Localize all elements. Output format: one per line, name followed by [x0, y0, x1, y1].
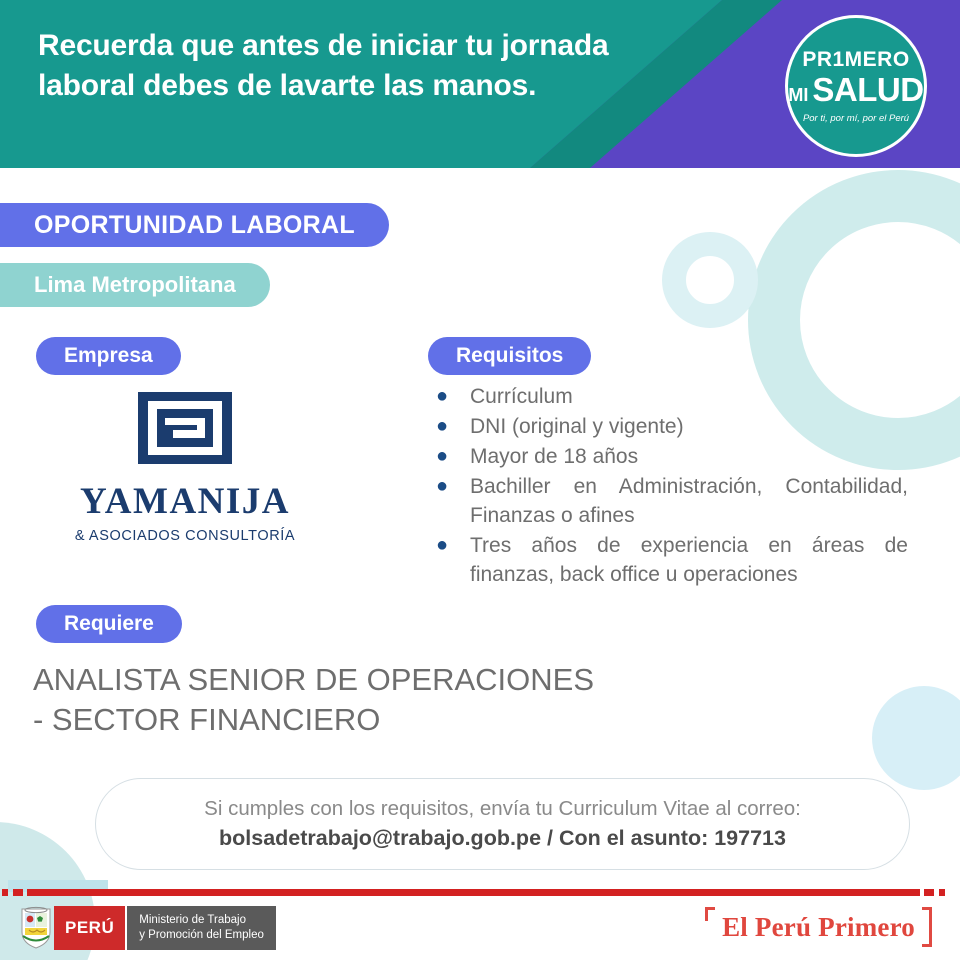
peru-text: PERÚ: [65, 918, 114, 938]
badge-mi-salud-row: MI SALUD: [788, 73, 923, 106]
list-item: ● Bachiller en Administración, Contabili…: [428, 472, 908, 530]
bullet-icon: ●: [428, 442, 470, 471]
el-peru-primero-logo: El Perú Primero: [705, 907, 932, 947]
company-name: YAMANIJA: [80, 480, 290, 523]
decorative-circle-right: [872, 686, 960, 790]
peru-coat-of-arms-icon: [18, 906, 54, 950]
requisitos-label: Requisitos: [456, 344, 563, 368]
divider-dash-left-2: [13, 889, 23, 896]
ministry-line-2: y Promoción del Empleo: [139, 928, 264, 943]
ministry-logo: PERÚ Ministerio de Trabajo y Promoción d…: [18, 906, 276, 950]
bullet-icon: ●: [428, 382, 470, 411]
header-message: Recuerda que antes de iniciar tu jornada…: [38, 26, 658, 106]
badge-oportunidad-laboral: OPORTUNIDAD LABORAL: [0, 203, 389, 247]
section-label-requisitos: Requisitos: [428, 337, 591, 375]
location-label: Lima Metropolitana: [34, 272, 236, 298]
requisito-text: Tres años de experiencia en áreas de fin…: [470, 531, 908, 589]
badge-primero-text: PR1MERO: [802, 49, 909, 70]
divider-line: [27, 889, 920, 896]
badge-mi-text: MI: [788, 86, 808, 104]
badge-location: Lima Metropolitana: [0, 263, 270, 307]
divider-dash-right-1: [924, 889, 934, 896]
oportunidad-label: OPORTUNIDAD LABORAL: [34, 211, 355, 240]
list-item: ● Currículum: [428, 382, 908, 411]
list-item: ● Mayor de 18 años: [428, 442, 908, 471]
contact-instruction: Si cumples con los requisitos, envía tu …: [204, 797, 801, 821]
badge-salud-text: SALUD: [812, 73, 923, 106]
el-peru-primero-text: El Perú Primero: [715, 912, 922, 943]
bracket-right-icon: [922, 907, 932, 947]
company-block: YAMANIJA & ASOCIADOS CONSULTORÍA: [20, 390, 350, 544]
divider-dash-left-1: [2, 889, 8, 896]
section-label-requiere: Requiere: [36, 605, 182, 643]
ministry-line-1: Ministerio de Trabajo: [139, 913, 264, 928]
bullet-icon: ●: [428, 412, 470, 441]
yamanija-spiral-logo-icon: [135, 390, 235, 466]
badge-tagline: Por ti, por mí, por el Perú: [803, 113, 909, 124]
decorative-ring-small: [662, 232, 758, 328]
requisito-text: Bachiller en Administración, Contabilida…: [470, 472, 908, 530]
requisitos-list: ● Currículum ● DNI (original y vigente) …: [428, 382, 908, 590]
divider-dash-right-2: [939, 889, 945, 896]
peru-label: PERÚ: [54, 906, 125, 950]
job-title-line2: - SECTOR FINANCIERO: [33, 700, 733, 740]
bullet-icon: ●: [428, 531, 470, 589]
bullet-icon: ●: [428, 472, 470, 530]
job-title: ANALISTA SENIOR DE OPERACIONES - SECTOR …: [33, 660, 733, 739]
primero-mi-salud-badge: PR1MERO MI SALUD Por ti, por mí, por el …: [785, 15, 927, 157]
requisito-text: Mayor de 18 años: [470, 442, 908, 471]
job-posting-poster: Recuerda que antes de iniciar tu jornada…: [0, 0, 960, 960]
ministry-name: Ministerio de Trabajo y Promoción del Em…: [125, 906, 276, 950]
list-item: ● DNI (original y vigente): [428, 412, 908, 441]
contact-email-and-subject[interactable]: bolsadetrabajo@trabajo.gob.pe / Con el a…: [219, 826, 786, 851]
requisito-text: DNI (original y vigente): [470, 412, 908, 441]
list-item: ● Tres años de experiencia en áreas de f…: [428, 531, 908, 589]
company-tagline: & ASOCIADOS CONSULTORÍA: [75, 528, 295, 544]
contact-instructions-box: Si cumples con los requisitos, envía tu …: [95, 778, 910, 870]
job-title-line1: ANALISTA SENIOR DE OPERACIONES: [33, 660, 733, 700]
bracket-left-icon: [705, 907, 715, 921]
header-banner: Recuerda que antes de iniciar tu jornada…: [0, 0, 960, 168]
empresa-label: Empresa: [64, 344, 153, 368]
section-label-empresa: Empresa: [36, 337, 181, 375]
footer-divider: [0, 889, 960, 896]
requisito-text: Currículum: [470, 382, 908, 411]
requiere-label: Requiere: [64, 612, 154, 636]
